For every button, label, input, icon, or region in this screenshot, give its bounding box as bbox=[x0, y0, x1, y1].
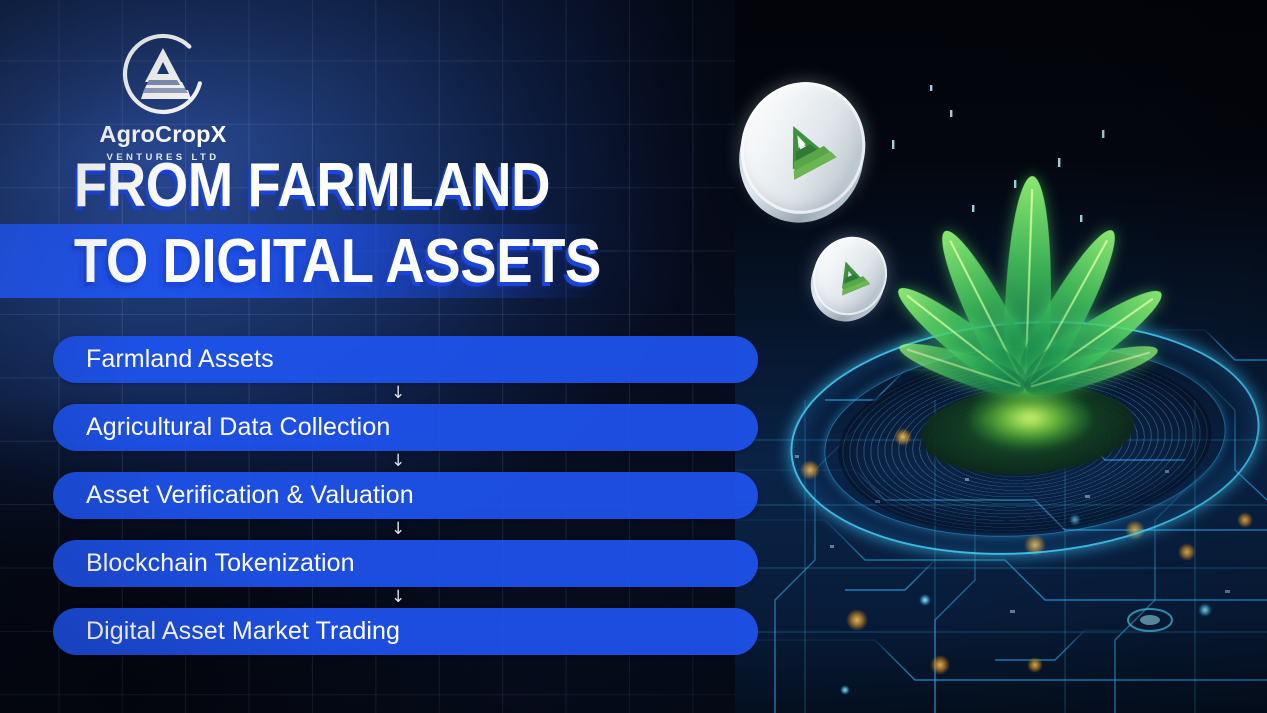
flow-step-label: Asset Verification & Valuation bbox=[53, 481, 414, 510]
arrow-down-glyph: ↓ bbox=[391, 453, 405, 470]
brand-logo-block: AgroCropX VENTURES LTD bbox=[58, 30, 268, 163]
headline-block: FROM FARMLAND TO DIGITAL ASSETS bbox=[0, 155, 780, 298]
agrocropx-mountain-leaf-logo-icon bbox=[119, 30, 207, 118]
flow-step-blockchain-tokenization[interactable]: Blockchain Tokenization bbox=[53, 540, 758, 587]
infographic-canvas: AgroCropX VENTURES LTD FROM FARMLAND TO … bbox=[0, 0, 1267, 713]
brand-name: AgroCropX bbox=[58, 123, 268, 147]
headline-highlight-band: TO DIGITAL ASSETS bbox=[0, 224, 780, 298]
flow-step-farmland-assets[interactable]: Farmland Assets bbox=[53, 336, 758, 383]
flow-arrow-down-icon-3: ↓ bbox=[53, 519, 763, 540]
flow-step-label: Farmland Assets bbox=[53, 345, 274, 374]
flow-step-label: Blockchain Tokenization bbox=[53, 549, 355, 578]
flow-step-asset-verification-valuation[interactable]: Asset Verification & Valuation bbox=[53, 472, 758, 519]
flow-arrow-down-icon-2: ↓ bbox=[53, 451, 763, 472]
headline-line-2: TO DIGITAL ASSETS bbox=[0, 231, 601, 292]
flow-step-digital-asset-market-trading[interactable]: Digital Asset Market Trading bbox=[53, 608, 758, 655]
process-flow-list: Farmland Assets ↓ Agricultural Data Coll… bbox=[53, 336, 763, 655]
flow-arrow-down-icon-1: ↓ bbox=[53, 383, 763, 404]
headline-line-1: FROM FARMLAND bbox=[0, 155, 686, 216]
tech-circuit-crater bbox=[790, 300, 1260, 600]
flow-step-agricultural-data-collection[interactable]: Agricultural Data Collection bbox=[53, 404, 758, 451]
digital-green-plant bbox=[845, 88, 1205, 388]
arrow-down-glyph: ↓ bbox=[391, 589, 405, 606]
flow-arrow-down-icon-4: ↓ bbox=[53, 587, 763, 608]
arrow-down-glyph: ↓ bbox=[391, 385, 405, 402]
plant-glow-core bbox=[970, 388, 1090, 448]
arrow-down-glyph: ↓ bbox=[391, 521, 405, 538]
flow-step-label: Agricultural Data Collection bbox=[53, 413, 390, 442]
flow-step-label: Digital Asset Market Trading bbox=[53, 617, 400, 646]
